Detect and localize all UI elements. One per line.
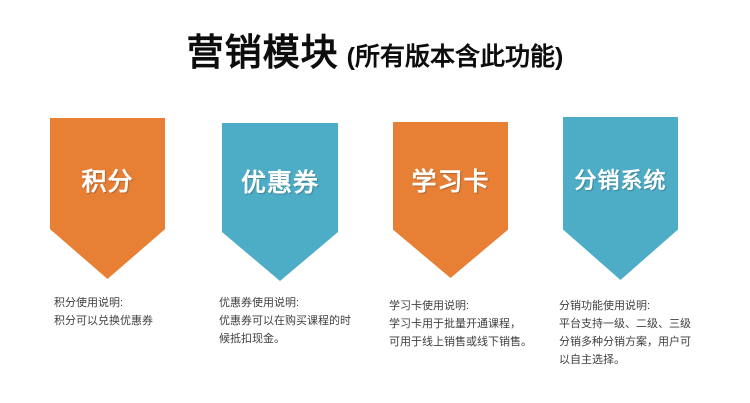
module-banner-label: 积分 — [50, 162, 165, 198]
caption-line: 分销功能使用说明: — [559, 297, 691, 315]
caption-line: 分销多种分销方案，用户可 — [559, 333, 691, 351]
module-caption-youhuiquan: 优惠券使用说明: 优惠券可以在购买课程的时 候抵扣现金。 — [219, 294, 351, 348]
title-sub-text: (所有版本含此功能) — [347, 43, 564, 71]
page-title: 营销模块(所有版本含此功能) — [0, 22, 750, 76]
caption-line: 学习卡使用说明: — [389, 297, 532, 315]
title-main-text: 营销模块 — [187, 32, 339, 73]
caption-line: 可用于线上销售或线下销售。 — [389, 333, 532, 351]
module-caption-xuexika: 学习卡使用说明: 学习卡用于批量开通课程， 可用于线上销售或线下销售。 — [389, 297, 532, 351]
module-banner-jifen[interactable]: 积分 — [50, 118, 165, 279]
module-caption-fenxiaoxitong: 分销功能使用说明: 平台支持一级、二级、三级 分销多种分销方案，用户可 以自主选… — [559, 297, 691, 369]
caption-line: 优惠券可以在购买课程的时 — [219, 312, 351, 330]
caption-line: 学习卡用于批量开通课程， — [389, 315, 532, 333]
caption-line: 以自主选择。 — [559, 351, 691, 369]
caption-line: 平台支持一级、二级、三级 — [559, 315, 691, 333]
module-banner-label: 分销系统 — [563, 163, 678, 195]
module-caption-jifen: 积分使用说明: 积分可以兑换优惠券 — [54, 294, 153, 330]
module-banner-youhuiquan[interactable]: 优惠券 — [222, 123, 338, 281]
caption-line: 优惠券使用说明: — [219, 294, 351, 312]
module-banner-xuexika[interactable]: 学习卡 — [393, 122, 508, 278]
module-banner-label: 优惠券 — [222, 163, 338, 199]
caption-line: 积分可以兑换优惠券 — [54, 312, 153, 330]
module-banner-fenxiaoxitong[interactable]: 分销系统 — [563, 117, 678, 280]
module-banner-label: 学习卡 — [393, 162, 508, 198]
slide-canvas: 营销模块(所有版本含此功能) 积分 优惠券 学习卡 分销系统 积分使用说明: 积… — [0, 0, 750, 403]
caption-line: 积分使用说明: — [54, 294, 153, 312]
caption-line: 候抵扣现金。 — [219, 330, 351, 348]
